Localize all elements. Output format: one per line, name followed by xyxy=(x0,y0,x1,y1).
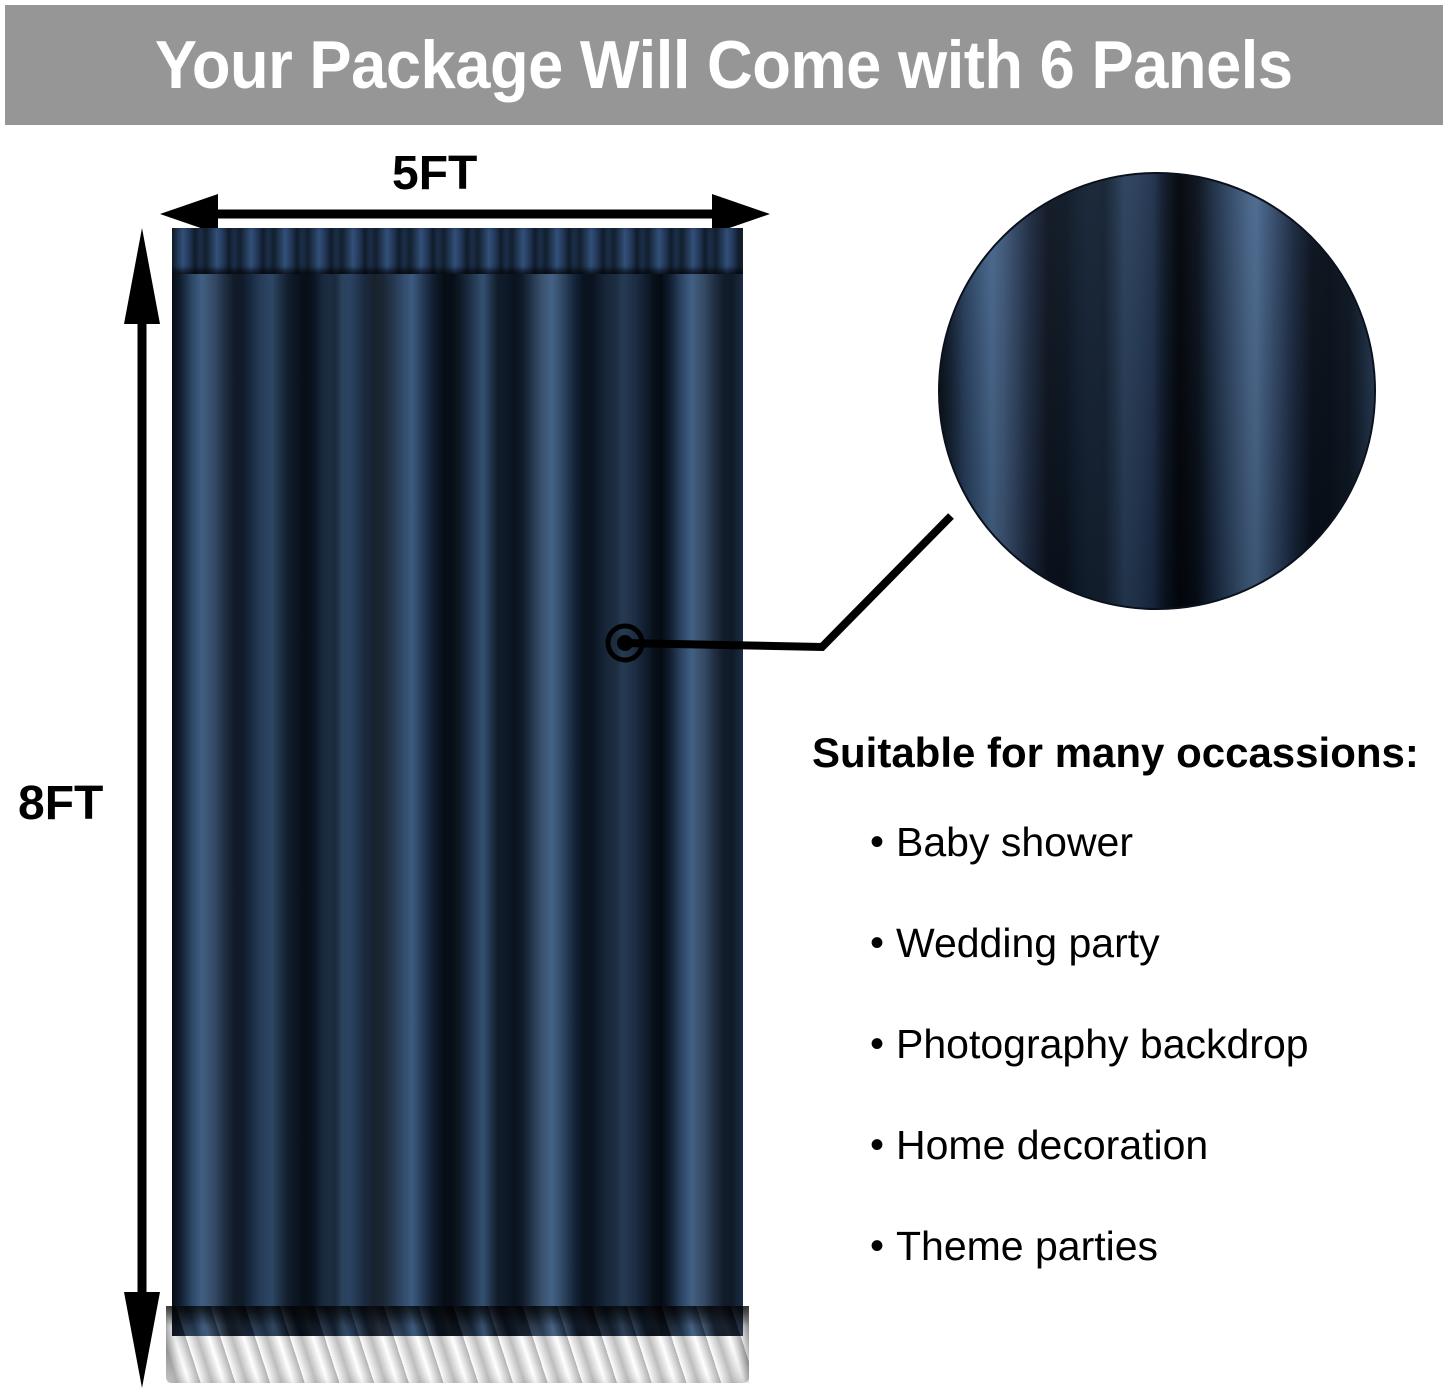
bullet-icon: • xyxy=(870,820,896,864)
list-item: • Wedding party xyxy=(812,921,1432,965)
occasion-label: Wedding party xyxy=(896,921,1160,965)
list-item: • Photography backdrop xyxy=(812,1022,1432,1066)
curtain-fabric-body xyxy=(172,228,743,1336)
occasions-section: Suitable for many occassions: • Baby sho… xyxy=(812,730,1432,1325)
infographic-page: Your Package Will Come with 6 Panels 5FT… xyxy=(0,0,1448,1391)
fabric-closeup-texture xyxy=(938,172,1376,610)
occasions-list: • Baby shower • Wedding party • Photogra… xyxy=(812,820,1432,1268)
bullet-icon: • xyxy=(870,921,896,965)
curtain-product-image xyxy=(166,228,749,1383)
header-banner: Your Package Will Come with 6 Panels xyxy=(5,5,1443,125)
curtain-rod-pocket-header xyxy=(172,228,743,274)
fabric-detail-marker-dot xyxy=(617,635,633,651)
list-item: • Home decoration xyxy=(812,1123,1432,1167)
height-dimension-label: 8FT xyxy=(18,780,103,828)
occasion-label: Home decoration xyxy=(896,1123,1208,1167)
callout-leader-line xyxy=(596,500,976,700)
bullet-icon: • xyxy=(870,1123,896,1167)
occasion-label: Photography backdrop xyxy=(896,1022,1309,1066)
occasion-label: Baby shower xyxy=(896,820,1133,864)
height-dimension-arrow-icon xyxy=(116,228,168,1388)
fabric-closeup-circle xyxy=(938,172,1376,610)
bullet-icon: • xyxy=(870,1022,896,1066)
list-item: • Theme parties xyxy=(812,1224,1432,1268)
page-title: Your Package Will Come with 6 Panels xyxy=(155,31,1293,99)
bullet-icon: • xyxy=(870,1224,896,1268)
occasion-label: Theme parties xyxy=(896,1224,1158,1268)
list-item: • Baby shower xyxy=(812,820,1432,864)
occasions-heading: Suitable for many occassions: xyxy=(812,730,1432,776)
curtain-pooled-hem xyxy=(166,1306,749,1383)
